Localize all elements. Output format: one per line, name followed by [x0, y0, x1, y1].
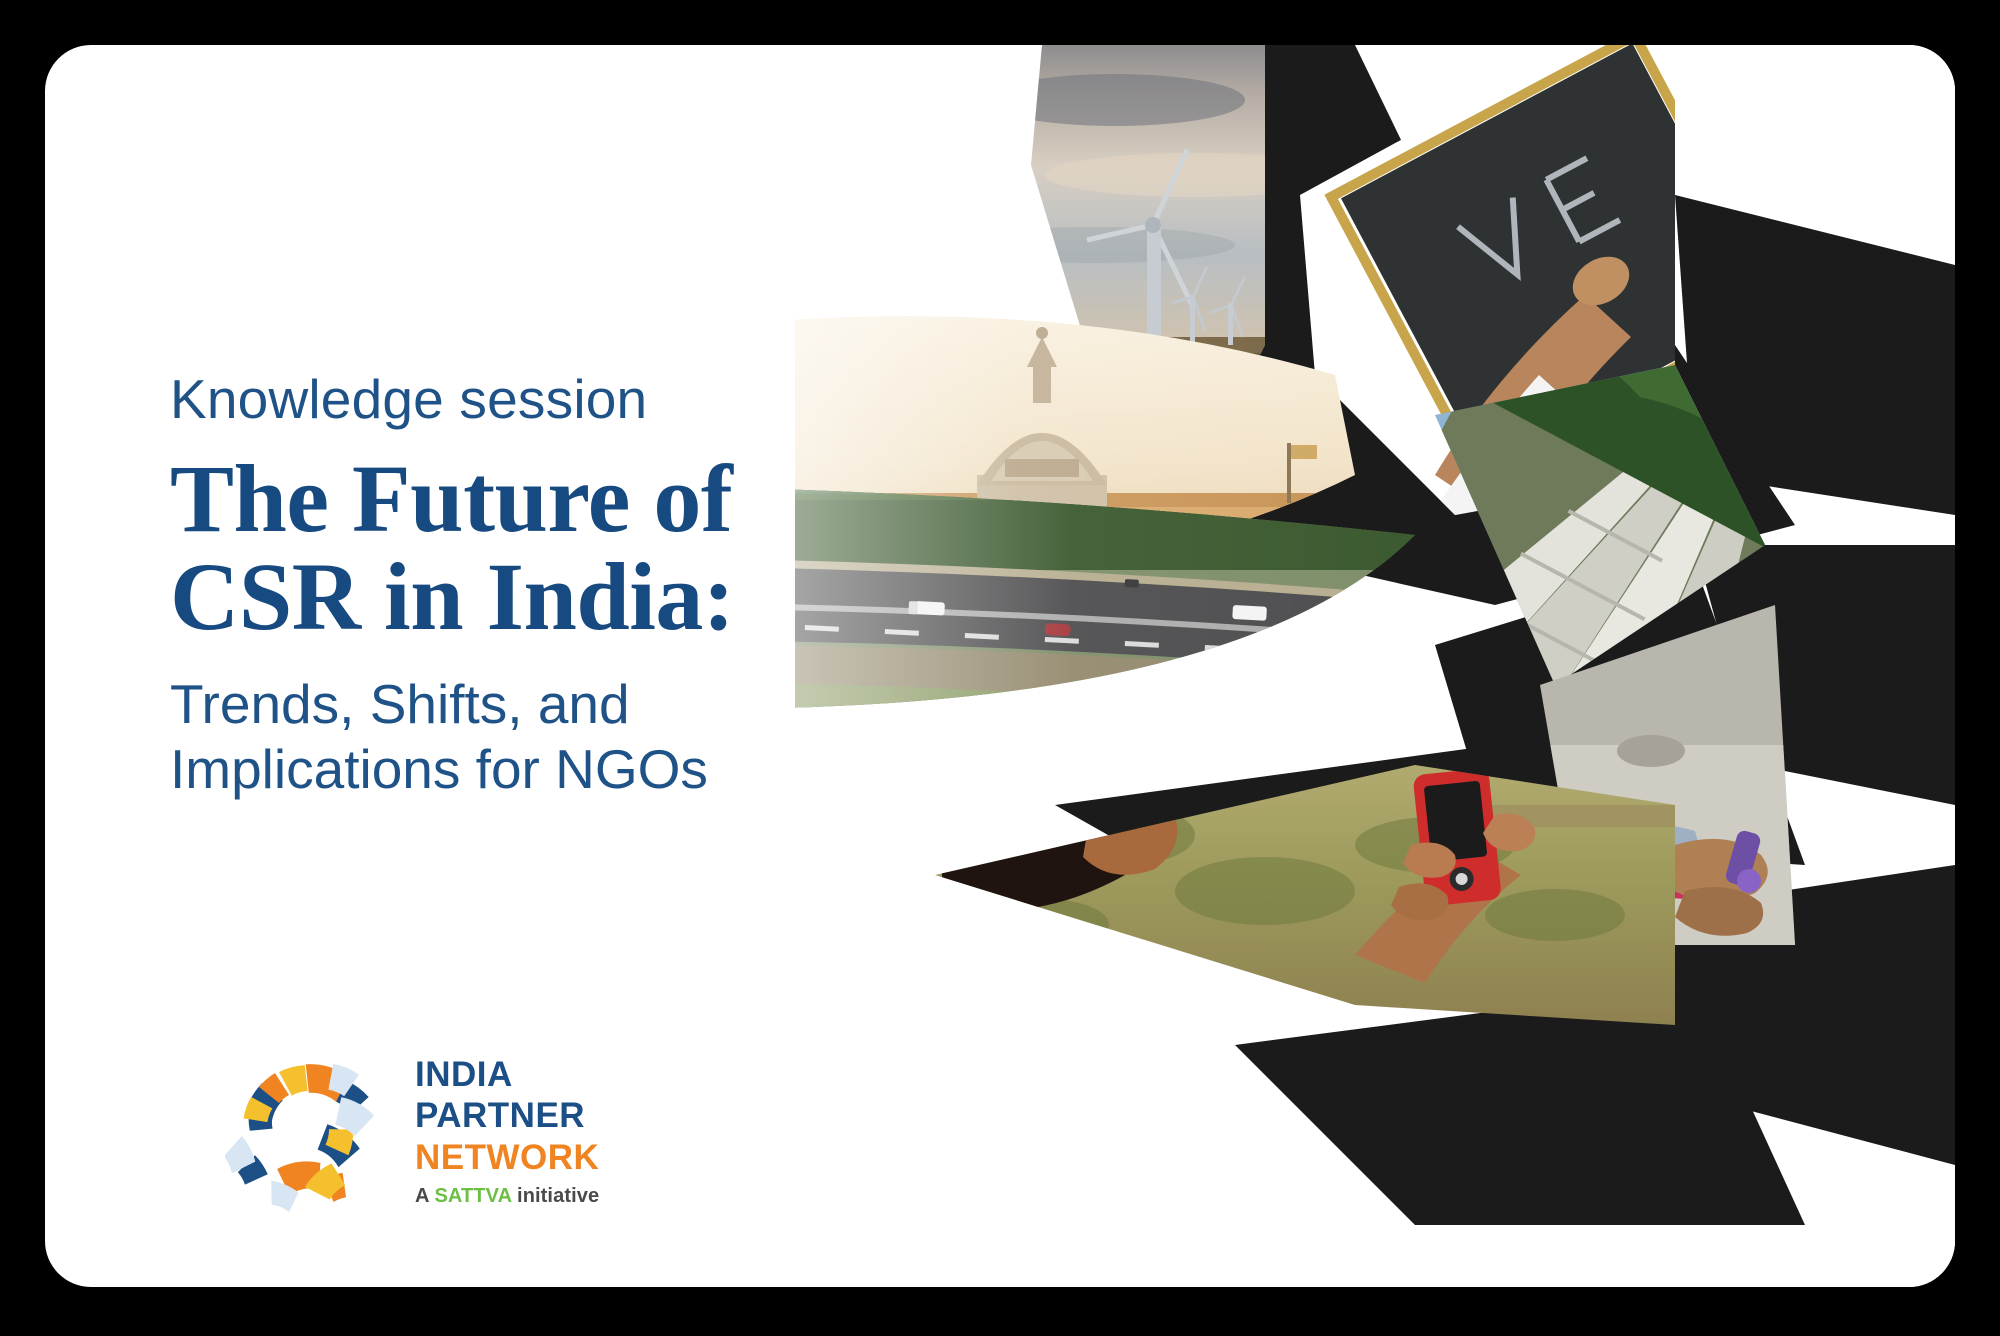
logo-tagline: A SATTVA initiative [415, 1185, 599, 1208]
logo-line-network: NETWORK [415, 1137, 599, 1178]
tagline-brand: SATTVA [434, 1185, 511, 1207]
presentation-slide: Knowledge session The Future of CSR in I… [45, 45, 1955, 1287]
photo-collage [795, 45, 1955, 1287]
page-title: The Future of CSR in India: [170, 450, 960, 646]
screenshot-canvas: Knowledge session The Future of CSR in I… [0, 0, 2000, 1336]
logo-wordmark: INDIA PARTNER NETWORK A SATTVA initiativ… [415, 1050, 599, 1208]
slide-text-block: Knowledge session The Future of CSR in I… [170, 370, 960, 802]
india-partner-network-circular-mark [225, 1045, 393, 1213]
tagline-suffix: initiative [517, 1185, 599, 1207]
headline-line-1: The Future of [170, 445, 732, 552]
logo-line-india: INDIA [415, 1054, 599, 1095]
tagline-prefix: A [415, 1185, 429, 1207]
headline-line-2: CSR in India: [170, 548, 960, 646]
subtitle-line-2: Implications for NGOs [170, 737, 960, 802]
eyebrow-text: Knowledge session [170, 370, 960, 428]
subtitle-line-1: Trends, Shifts, and [170, 673, 630, 735]
logo-line-partner: PARTNER [415, 1095, 599, 1136]
india-partner-network-logo: INDIA PARTNER NETWORK A SATTVA initiativ… [225, 1045, 599, 1213]
subtitle: Trends, Shifts, and Implications for NGO… [170, 672, 960, 802]
